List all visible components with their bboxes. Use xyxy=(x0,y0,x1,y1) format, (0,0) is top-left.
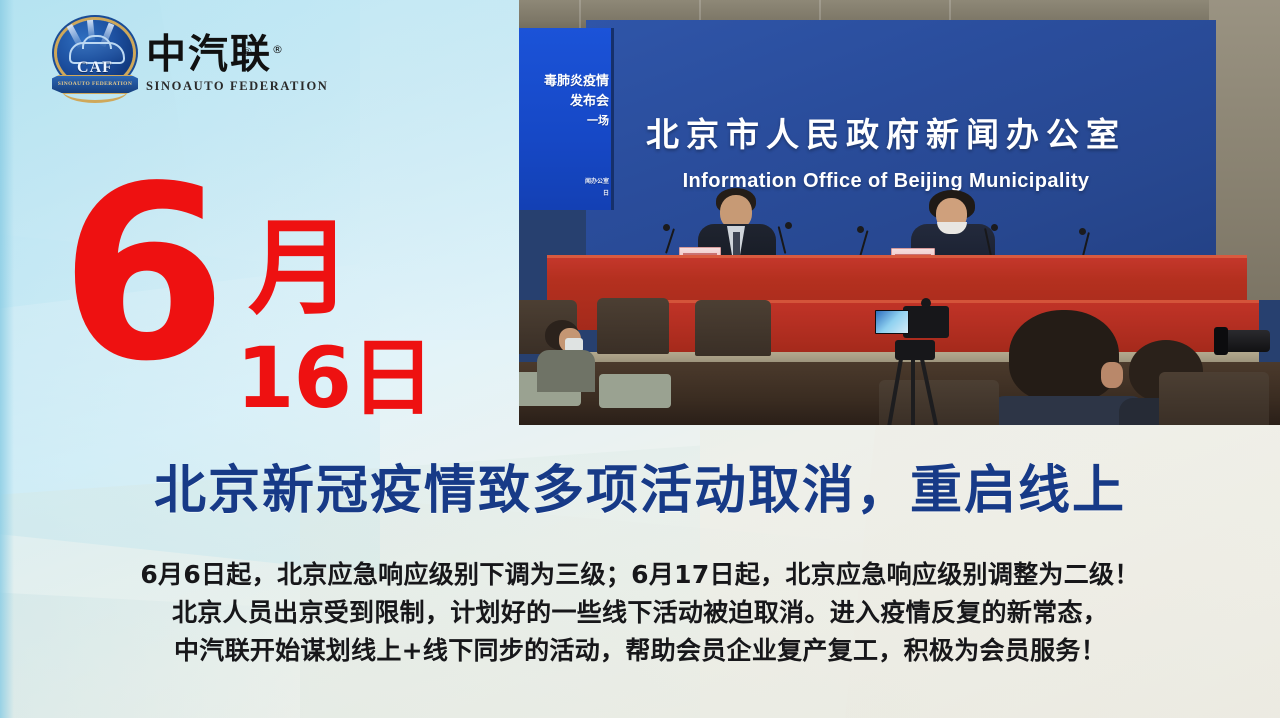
audience-seat xyxy=(597,298,669,354)
photo-side-screen: 毒肺炎疫情 发布会 一场 闻办公室 日 xyxy=(519,28,614,210)
brand-logo: CAF SINOAUTO FEDERATION ® 中汽联® SINOAUTO … xyxy=(52,18,328,102)
microphone-head xyxy=(1079,228,1086,235)
side-screen-line-5: 日 xyxy=(603,188,609,197)
microphone-head xyxy=(991,224,998,231)
poster-canvas: CAF SINOAUTO FEDERATION ® 中汽联® SINOAUTO … xyxy=(0,0,1280,718)
page-headline: 北京新冠疫情致多项活动取消，重启线上 xyxy=(0,462,1280,520)
brand-wordmark: ® 中汽联® SINOAUTO FEDERATION xyxy=(146,26,328,93)
camera-lcd-screen xyxy=(875,310,909,334)
date-month-number: 6 xyxy=(60,154,221,394)
backdrop-title-cn: 北京市人民政府新闻办公室 xyxy=(586,108,1186,156)
tripod-head xyxy=(895,340,935,360)
lens-hood xyxy=(1214,327,1228,355)
audience-torso xyxy=(537,350,595,392)
emblem-ribbon: SINOAUTO FEDERATION xyxy=(52,75,138,94)
tripod-leg xyxy=(920,358,938,425)
side-screen-line-3: 一场 xyxy=(587,112,609,128)
registered-mark-icon: ® xyxy=(242,44,252,60)
date-day-text: 16日 xyxy=(236,336,434,420)
side-screen-line-4: 闻办公室 xyxy=(585,176,609,185)
seat-cushion xyxy=(599,374,671,408)
emblem-ribbon-label: SINOAUTO FEDERATION xyxy=(52,76,138,93)
press-conference-photo: 北京市人民政府新闻办公室 Information Office of Beiji… xyxy=(519,0,1280,425)
video-camera-body xyxy=(903,306,949,338)
audience-member-left xyxy=(537,320,597,390)
body-paragraph: 6月6日起，北京应急响应级别下调为三级；6月17日起，北京应急响应级别调整为二级… xyxy=(0,556,1280,670)
lens-barrel xyxy=(1224,330,1270,352)
body-line-2: 北京人员出京受到限制，计划好的一些线下活动被迫取消。进入疫情反复的新常态， xyxy=(0,594,1280,632)
body-line-3: 中汽联开始谋划线上+线下同步的活动，帮助会员企业复产复工，积极为会员服务！ xyxy=(0,632,1280,670)
brand-name-en: SINOAUTO FEDERATION xyxy=(146,79,328,94)
caf-emblem-icon: CAF SINOAUTO FEDERATION xyxy=(52,18,138,102)
emblem-initials: CAF xyxy=(52,59,138,77)
camera-mic xyxy=(921,298,931,308)
side-screen-line-2: 发布会 xyxy=(570,90,609,109)
date-month-char: 月 xyxy=(248,216,352,320)
body-line-1: 6月6日起，北京应急响应级别下调为三级；6月17日起，北京应急响应级别调整为二级… xyxy=(0,556,1280,594)
tripod-leg xyxy=(887,358,903,425)
tripod-leg xyxy=(911,358,915,425)
press-telephoto-lens xyxy=(1224,322,1280,366)
camera-tripod xyxy=(871,300,961,425)
date-display: 6 月 16日 xyxy=(60,170,480,410)
audience-seat xyxy=(695,300,771,356)
microphone-head xyxy=(785,222,792,229)
side-screen-line-1: 毒肺炎疫情 xyxy=(544,70,609,89)
microphone-head xyxy=(857,226,864,233)
brand-name-cn-text: 中汽联 xyxy=(146,32,272,78)
audience-head xyxy=(1009,310,1119,402)
brand-name-cn: 中汽联® xyxy=(146,28,328,76)
registered-mark-icon: ® xyxy=(272,43,285,56)
microphone-head xyxy=(663,224,670,231)
backdrop-title-en: Information Office of Beijing Municipali… xyxy=(586,170,1186,193)
audience-seat xyxy=(1159,372,1269,425)
